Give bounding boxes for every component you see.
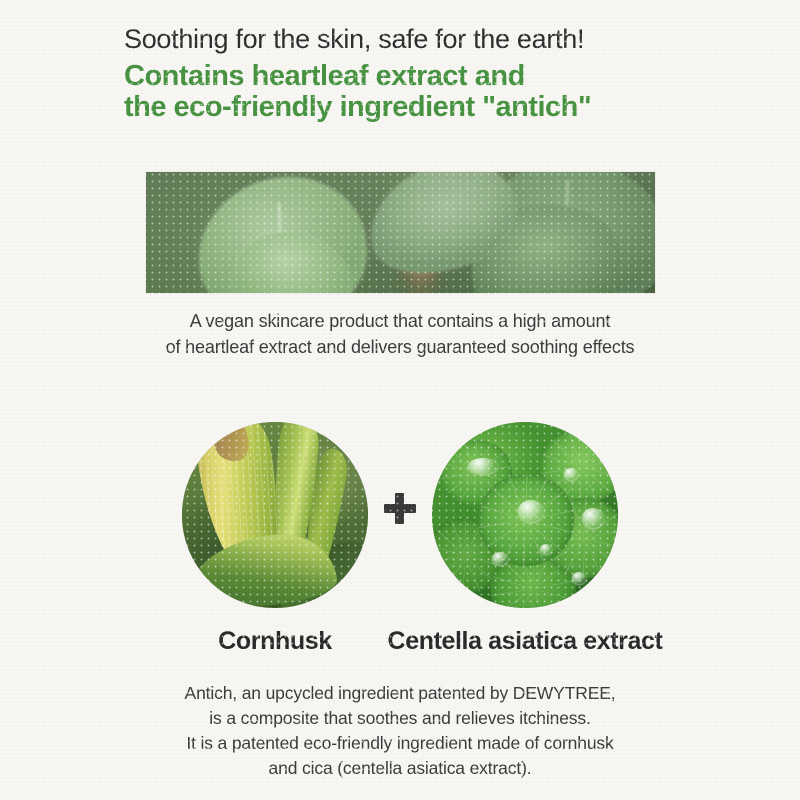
water-droplet-6 — [540, 544, 552, 554]
antich-description-line-2: is a composite that soothes and relieves… — [0, 706, 800, 731]
headline-block: Soothing for the skin, safe for the eart… — [124, 22, 724, 123]
ingredient-label-centella: Centella asiatica extract — [372, 627, 678, 656]
antich-description-line-3: It is a patented eco-friendly ingredient… — [0, 731, 800, 756]
water-droplet-7 — [572, 572, 586, 584]
heartleaf-banner-image — [146, 172, 655, 293]
water-droplet-4 — [582, 508, 604, 528]
cornhusk-circle-image — [182, 422, 368, 608]
antich-description-paragraph: Antich, an upcycled ingredient patented … — [0, 681, 800, 781]
intro-paragraph-line-1: A vegan skincare product that contains a… — [0, 308, 800, 334]
plus-icon — [382, 490, 418, 526]
water-droplet-3 — [468, 458, 498, 474]
product-detail-page: Soothing for the skin, safe for the eart… — [0, 0, 800, 800]
centella-circle-image — [432, 422, 618, 608]
plus-icon-vertical-bar — [395, 493, 404, 524]
headline-green-line-2: the eco-friendly ingredient "antich" — [124, 92, 724, 123]
intro-paragraph: A vegan skincare product that contains a… — [0, 308, 800, 360]
antich-description-line-1: Antich, an upcycled ingredient patented … — [0, 681, 800, 706]
ingredient-label-cornhusk: Cornhusk — [182, 627, 368, 656]
water-droplet-2 — [564, 468, 578, 480]
headline-green-line-1: Contains heartleaf extract and — [124, 61, 724, 92]
headline-tagline: Soothing for the skin, safe for the eart… — [124, 22, 724, 56]
intro-paragraph-line-2: of heartleaf extract and delivers guaran… — [0, 334, 800, 360]
water-droplet-5 — [492, 552, 508, 565]
antich-description-line-4: and cica (centella asiatica extract). — [0, 756, 800, 781]
banner-soft-overlay — [146, 172, 655, 293]
water-droplet-1 — [518, 500, 544, 522]
ingredient-labels-row: Cornhusk Centella asiatica extract — [0, 627, 800, 659]
